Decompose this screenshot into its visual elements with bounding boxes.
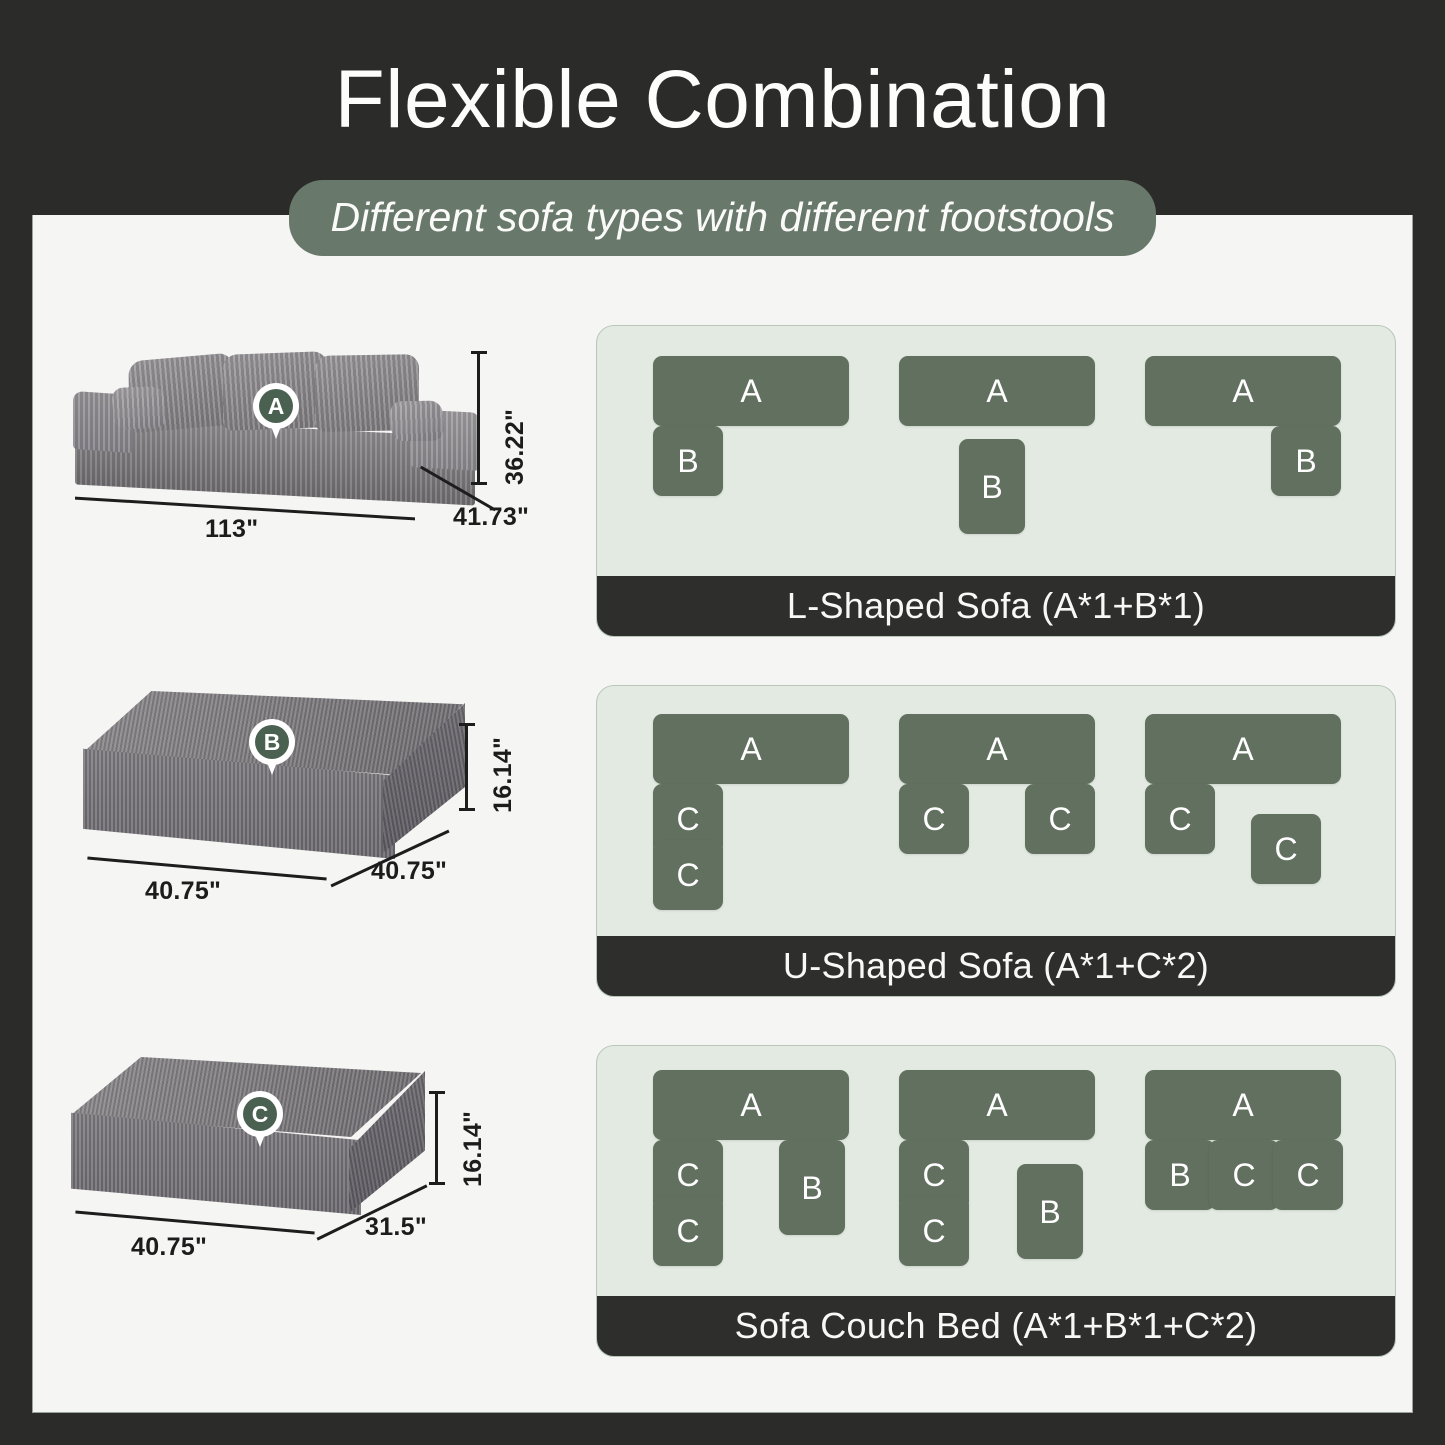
combo-caption-2: U-Shaped Sofa (A*1+C*2) bbox=[597, 936, 1395, 996]
dim-line-height-c bbox=[435, 1091, 438, 1185]
block-c: C bbox=[1273, 1140, 1343, 1210]
marker-pin-a: A bbox=[253, 383, 299, 441]
dim-cap-top-c bbox=[429, 1091, 445, 1094]
block-c: C bbox=[899, 784, 969, 854]
block-c: C bbox=[653, 1196, 723, 1266]
block-b: B bbox=[1271, 426, 1341, 496]
block-c: C bbox=[1025, 784, 1095, 854]
product-illustration-a: A 36.22" 113" 41.73" bbox=[53, 321, 573, 681]
pin-label-b: B bbox=[255, 725, 289, 759]
dim-label-width-b: 40.75" bbox=[145, 877, 221, 906]
product-illustration-c: C 16.14" 40.75" 31.5" bbox=[53, 1041, 573, 1401]
sofa-pillow-left bbox=[111, 386, 167, 430]
dim-label-depth-b: 40.75" bbox=[371, 857, 447, 886]
product-row-a: A 36.22" 113" 41.73" A bbox=[33, 321, 1414, 681]
ottoman-b-stage: B 16.14" 40.75" 40.75" bbox=[53, 681, 573, 1041]
dim-cap-top-a bbox=[471, 351, 487, 354]
dim-label-width-a: 113" bbox=[205, 515, 258, 544]
block-a: A bbox=[653, 714, 849, 784]
combination-panel-u-shaped[interactable]: A C C A C C A C C U-Shaped Sofa (A*1+C*2… bbox=[596, 685, 1396, 997]
block-a: A bbox=[899, 356, 1095, 426]
block-b: B bbox=[779, 1140, 845, 1235]
combination-panel-sofa-couch-bed[interactable]: A C C B A C C B A B C C Sofa Couch Bed (… bbox=[596, 1045, 1396, 1357]
block-b: B bbox=[653, 426, 723, 496]
combo-stage-2: A C C A C C A C C bbox=[597, 686, 1395, 938]
dim-label-height-a: 36.22" bbox=[501, 409, 530, 485]
combination-panel-l-shaped[interactable]: A B A B A B L-Shaped Sofa (A*1+B*1) bbox=[596, 325, 1396, 637]
combo-stage-1: A B A B A B bbox=[597, 326, 1395, 578]
dim-cap-bottom-c bbox=[429, 1182, 445, 1185]
dim-label-width-c: 40.75" bbox=[131, 1233, 207, 1262]
dim-cap-bottom-a bbox=[471, 482, 487, 485]
marker-pin-c: C bbox=[237, 1091, 283, 1149]
dim-label-depth-c: 31.5" bbox=[365, 1213, 427, 1242]
ottoman-c-stage: C 16.14" 40.75" 31.5" bbox=[53, 1041, 573, 1401]
pin-label-c: C bbox=[243, 1097, 277, 1131]
block-c: C bbox=[899, 1196, 969, 1266]
dim-cap-top-b bbox=[459, 723, 475, 726]
product-row-b: B 16.14" 40.75" 40.75" A C C bbox=[33, 681, 1414, 1041]
subtitle-pill: Different sofa types with different foot… bbox=[289, 180, 1157, 256]
block-a: A bbox=[653, 356, 849, 426]
product-illustration-b: B 16.14" 40.75" 40.75" bbox=[53, 681, 573, 1041]
block-a: A bbox=[899, 1070, 1095, 1140]
block-a: A bbox=[899, 714, 1095, 784]
dim-line-height-b bbox=[465, 723, 468, 811]
sofa-stage: A 36.22" 113" 41.73" bbox=[53, 321, 573, 681]
block-a: A bbox=[1145, 714, 1341, 784]
dim-label-depth-a: 41.73" bbox=[453, 503, 529, 532]
dim-cap-bottom-b bbox=[459, 808, 475, 811]
block-c: C bbox=[653, 840, 723, 910]
block-b: B bbox=[959, 439, 1025, 534]
pin-label-a: A bbox=[259, 389, 293, 423]
marker-pin-b: B bbox=[249, 719, 295, 777]
block-a: A bbox=[1145, 356, 1341, 426]
block-a: A bbox=[1145, 1070, 1341, 1140]
combo-caption-3: Sofa Couch Bed (A*1+B*1+C*2) bbox=[597, 1296, 1395, 1356]
subtitle-text: Different sofa types with different foot… bbox=[331, 192, 1115, 242]
dim-label-height-b: 16.14" bbox=[489, 737, 518, 813]
combo-stage-3: A C C B A C C B A B C C bbox=[597, 1046, 1395, 1298]
product-row-c: C 16.14" 40.75" 31.5" A C C bbox=[33, 1041, 1414, 1401]
infographic-poster: Flexible Combination Different sofa type… bbox=[0, 0, 1445, 1445]
block-b: B bbox=[1017, 1164, 1083, 1259]
page-title: Flexible Combination bbox=[0, 52, 1445, 148]
block-c: C bbox=[1251, 814, 1321, 884]
block-a: A bbox=[653, 1070, 849, 1140]
combo-caption-1: L-Shaped Sofa (A*1+B*1) bbox=[597, 576, 1395, 636]
block-c: C bbox=[1209, 1140, 1279, 1210]
block-b: B bbox=[1145, 1140, 1215, 1210]
sofa-pillow-right bbox=[390, 401, 445, 442]
dim-line-height-a bbox=[477, 351, 480, 485]
content-sheet: A 36.22" 113" 41.73" A bbox=[32, 212, 1413, 1413]
dim-label-height-c: 16.14" bbox=[459, 1111, 488, 1187]
block-c: C bbox=[1145, 784, 1215, 854]
